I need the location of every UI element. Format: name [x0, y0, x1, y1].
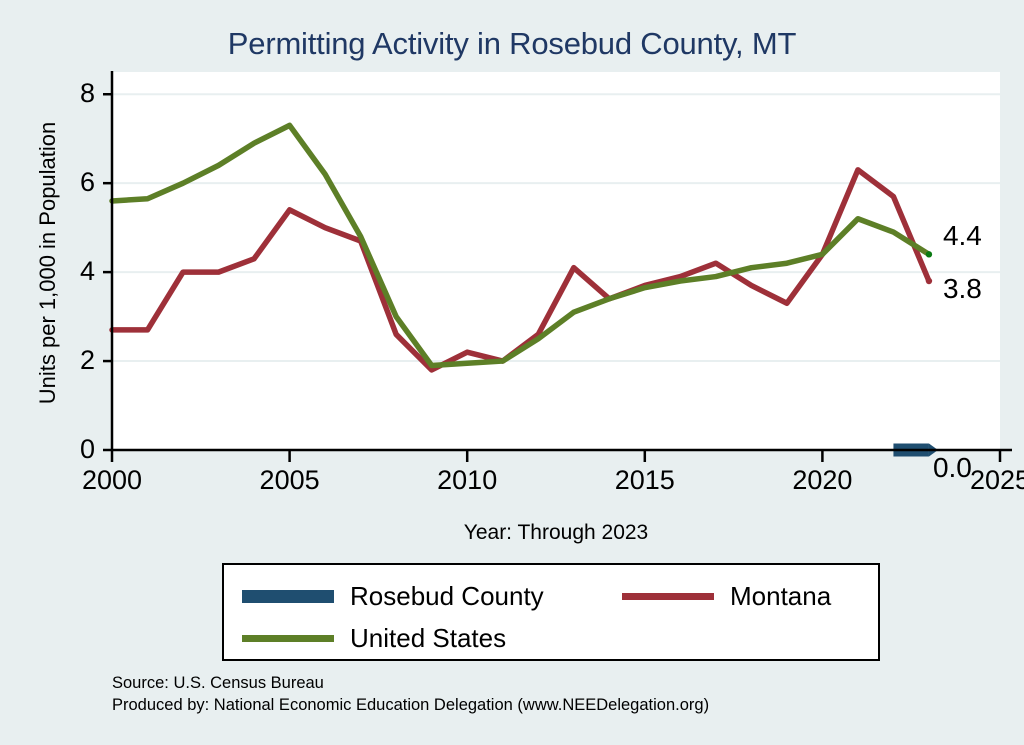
series-lines	[112, 125, 938, 456]
legend-label-united-states: United States	[350, 623, 506, 654]
y-axis-tick-label: 4	[55, 258, 95, 285]
x-axis-tick-label: 2000	[52, 467, 172, 494]
footer-source: Source: U.S. Census Bureau	[112, 672, 709, 694]
y-axis-tick-label: 8	[55, 80, 95, 107]
series-endpoint-united-states	[926, 251, 932, 257]
x-axis-title: Year: Through 2023	[112, 521, 1000, 545]
legend-entry-rosebud-county: Rosebud County	[242, 581, 544, 612]
x-axis-tick-label: 2015	[585, 467, 705, 494]
series-line-united-states	[112, 125, 929, 365]
y-axis-tick-label: 6	[55, 169, 95, 196]
series-endpoint-montana	[926, 278, 932, 284]
y-axis-tick-label: 2	[55, 347, 95, 374]
axis-ticks	[103, 94, 1000, 462]
legend-label-rosebud-county: Rosebud County	[350, 581, 544, 612]
footer-produced-by: Produced by: National Economic Education…	[112, 694, 709, 716]
end-label-united-states: 4.4	[943, 222, 982, 250]
x-axis-tick-label: 2020	[762, 467, 882, 494]
x-axis-tick-label: 2010	[407, 467, 527, 494]
legend-swatch-montana	[622, 593, 714, 600]
series-line-montana	[112, 170, 929, 370]
legend-swatch-rosebud-county	[242, 590, 334, 603]
chart-figure: Permitting Activity in Rosebud County, M…	[0, 0, 1024, 745]
legend-swatch-united-states	[242, 635, 334, 642]
y-axis-tick-label: 0	[55, 436, 95, 463]
end-label-montana: 3.8	[943, 275, 982, 303]
legend-label-montana: Montana	[730, 581, 831, 612]
end-label-rosebud-county: 0.0	[933, 454, 972, 482]
legend-entry-united-states: United States	[242, 623, 506, 654]
legend-entry-montana: Montana	[622, 581, 831, 612]
chart-legend: Rosebud County Montana United States	[222, 563, 880, 661]
x-axis-tick-label: 2005	[230, 467, 350, 494]
chart-footer: Source: U.S. Census Bureau Produced by: …	[112, 672, 709, 717]
